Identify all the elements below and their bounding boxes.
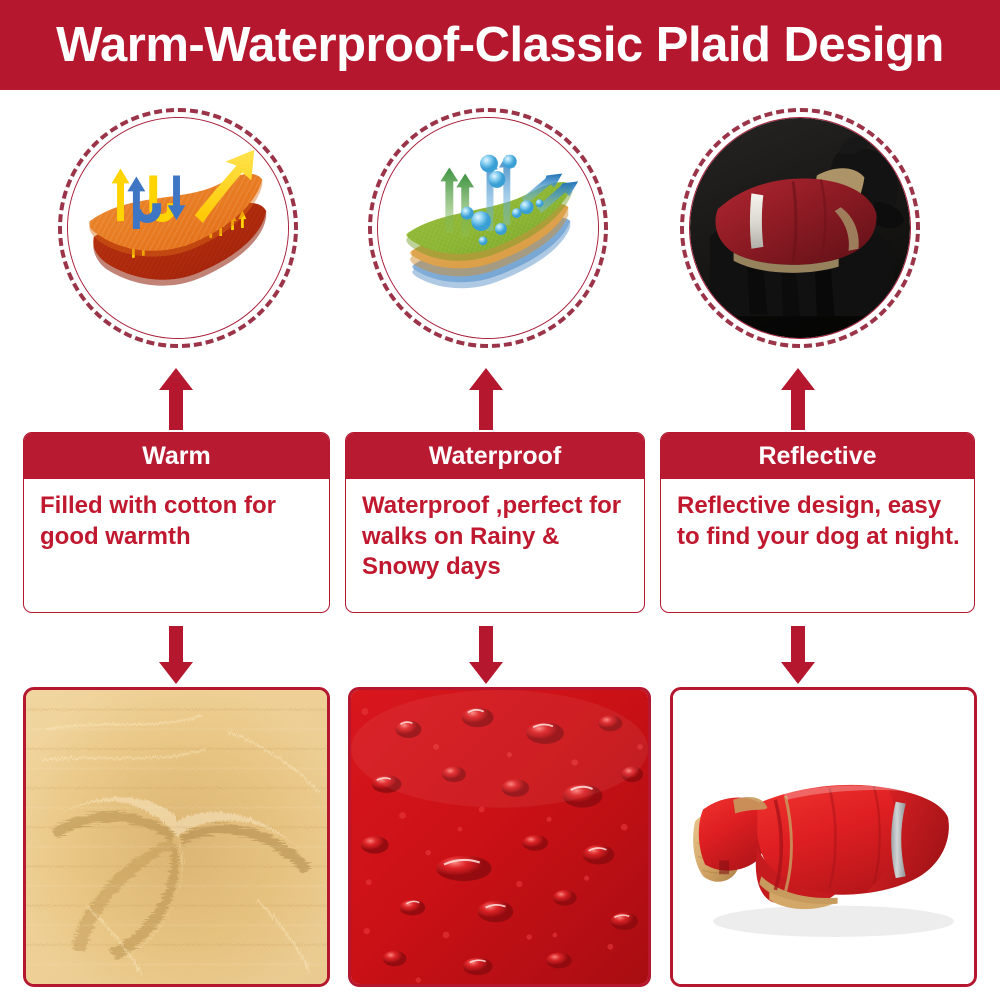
red-dog-jacket-product-photo xyxy=(670,687,977,987)
arrow-up-reflective xyxy=(781,368,815,430)
card-title: Warm xyxy=(142,444,211,469)
header-banner: Warm-Waterproof-Classic Plaid Design xyxy=(0,0,1000,90)
card-body-waterproof: Waterproof ,perfect for walks on Rainy &… xyxy=(346,479,644,583)
card-title: Reflective xyxy=(758,444,876,469)
warm-icon-circle xyxy=(58,108,298,348)
card-title: Waterproof xyxy=(429,444,561,469)
card-header-warm: Warm xyxy=(24,433,329,479)
card-header-waterproof: Waterproof xyxy=(346,433,644,479)
arrow-down-warm xyxy=(159,626,193,684)
feature-card-reflective: Reflective Reflective design, easy to fi… xyxy=(660,432,975,613)
reflective-icon-circle xyxy=(680,108,920,348)
fleece-lining-photo xyxy=(23,687,330,987)
arrow-down-reflective xyxy=(781,626,815,684)
feature-card-waterproof: Waterproof Waterproof ,perfect for walks… xyxy=(345,432,645,613)
warm-fabric-layers-icon xyxy=(68,118,288,338)
card-body-reflective: Reflective design, easy to find your dog… xyxy=(661,479,974,552)
arrow-up-waterproof xyxy=(469,368,503,430)
feature-card-warm: Warm Filled with cotton for good warmth xyxy=(23,432,330,613)
solid-ring-decoration xyxy=(689,117,911,339)
card-description: Waterproof ,perfect for walks on Rainy &… xyxy=(362,491,630,583)
arrow-up-warm xyxy=(159,368,193,430)
waterproof-icon-circle xyxy=(368,108,608,348)
waterproof-fabric-layers-icon xyxy=(378,118,598,338)
arrow-down-waterproof xyxy=(469,626,503,684)
card-description: Filled with cotton for good warmth xyxy=(40,491,315,552)
page-title: Warm-Waterproof-Classic Plaid Design xyxy=(56,21,944,70)
reflective-dog-night-photo-icon xyxy=(690,118,910,338)
card-header-reflective: Reflective xyxy=(661,433,974,479)
infographic-page: Warm-Waterproof-Classic Plaid Design xyxy=(0,0,1000,1000)
waterproof-fabric-photo xyxy=(348,687,651,987)
feature-icon-row xyxy=(0,100,1000,355)
solid-ring-decoration xyxy=(67,117,289,339)
solid-ring-decoration xyxy=(377,117,599,339)
card-description: Reflective design, easy to find your dog… xyxy=(677,491,960,552)
card-body-warm: Filled with cotton for good warmth xyxy=(24,479,329,552)
